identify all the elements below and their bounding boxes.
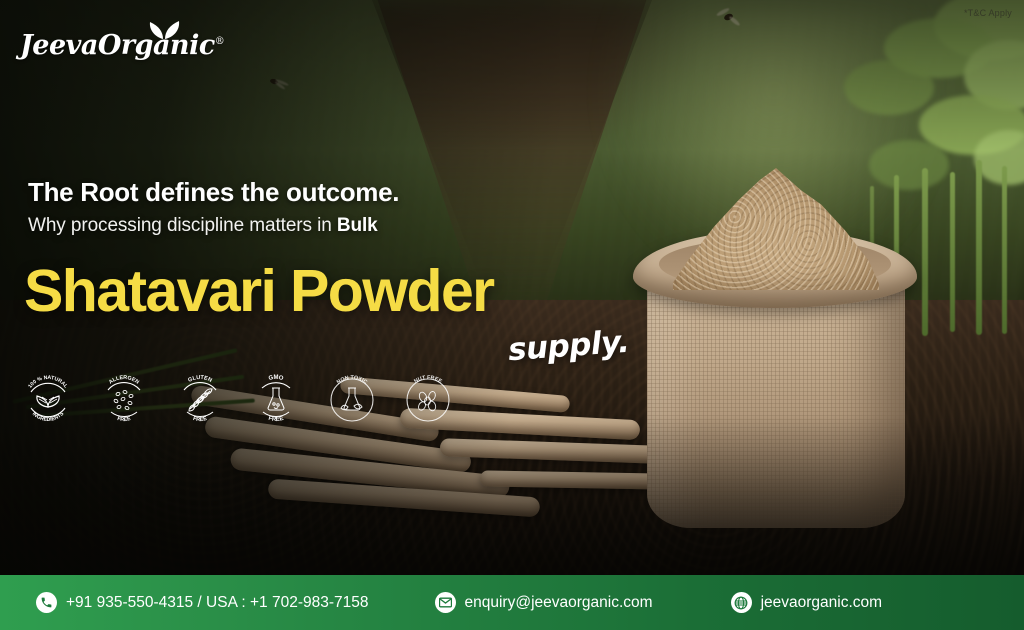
footer-website[interactable]: jeevaorganic.com: [731, 592, 882, 613]
globe-icon: [731, 592, 752, 613]
flask-leaf-icon: [341, 388, 362, 410]
headline: The Root defines the outcome.: [28, 178, 668, 207]
brand-logo[interactable]: JeevaOrganic®: [20, 20, 220, 64]
nuts-icon: [417, 391, 437, 412]
leaf-icon: [146, 18, 182, 40]
website-url: jeevaorganic.com: [761, 594, 882, 612]
registered-mark: ®: [215, 36, 225, 47]
phone-icon: [36, 592, 57, 613]
svg-text:GMO: GMO: [268, 375, 284, 382]
leaves-icon: [37, 396, 59, 407]
email-address: enquiry@jeevaorganic.com: [465, 594, 653, 612]
phone-number: +91 935-550-4315 / USA : +1 702-983-7158: [66, 594, 369, 612]
headline-block: The Root defines the outcome. Why proces…: [28, 178, 668, 237]
contact-footer: +91 935-550-4315 / USA : +1 702-983-7158…: [0, 575, 1024, 630]
bottom-dark-overlay: [0, 415, 1024, 575]
svg-text:NON TOXIC: NON TOXIC: [336, 375, 368, 386]
footer-email[interactable]: enquiry@jeevaorganic.com: [435, 592, 653, 613]
svg-text:ALLERGEN: ALLERGEN: [108, 375, 140, 386]
allergen-dots-icon: [114, 390, 134, 410]
badge-non-toxic: NON TOXIC: [326, 374, 378, 426]
certification-badges: 100 % NATURAL INGREDIENTS ALLERG: [22, 374, 454, 426]
badge-gmo-free: GMO FREE: [250, 374, 302, 426]
badge-nut-free: NUT FREE: [402, 374, 454, 426]
wheat-icon: [189, 389, 212, 411]
flask-icon: [268, 388, 284, 410]
brand-name: JeevaOrganic®: [20, 20, 220, 68]
subheadline-text: Why processing discipline matters in: [28, 215, 337, 236]
terms-disclaimer: *T&C Apply: [964, 8, 1012, 18]
product-title: Shatavari Powder: [24, 262, 494, 321]
promotional-banner: JeevaOrganic® *T&C Apply The Root define…: [0, 0, 1024, 630]
badge-gluten-free: GLUTEN FREE: [174, 374, 226, 426]
badge-allergen-free: ALLERGEN FREE: [98, 374, 150, 426]
subheadline: Why processing discipline matters in Bul…: [28, 215, 668, 237]
svg-text:100 % NATURAL: 100 % NATURAL: [27, 375, 69, 390]
footer-phone[interactable]: +91 935-550-4315 / USA : +1 702-983-7158: [36, 592, 369, 613]
shatavari-powder-mound: [673, 168, 879, 290]
badge-100-natural-ingredients: 100 % NATURAL INGREDIENTS: [22, 374, 74, 426]
subheadline-emphasis: Bulk: [337, 215, 378, 236]
envelope-icon: [435, 592, 456, 613]
svg-text:NUT FREE: NUT FREE: [413, 375, 443, 385]
